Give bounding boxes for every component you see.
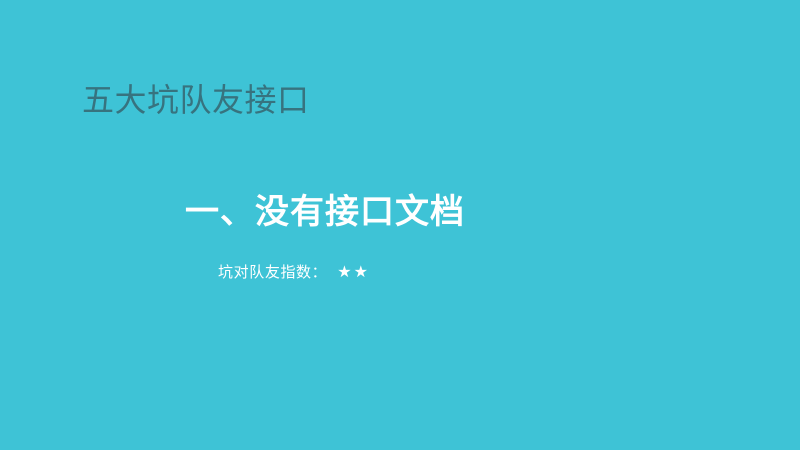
teammate-pain-rating: 坑对队友指数：★★ (0, 262, 588, 284)
rating-label: 坑对队友指数： (218, 264, 327, 281)
slide-headline: 一、没有接口文档 (0, 190, 650, 234)
presentation-slide: 五大坑队友接口 一、没有接口文档 坑对队友指数：★★ (0, 0, 800, 450)
star-filled-icon: ★★ (337, 262, 370, 284)
deck-section-title: 五大坑队友接口 (82, 81, 310, 119)
headline-block: 一、没有接口文档 (0, 190, 650, 234)
